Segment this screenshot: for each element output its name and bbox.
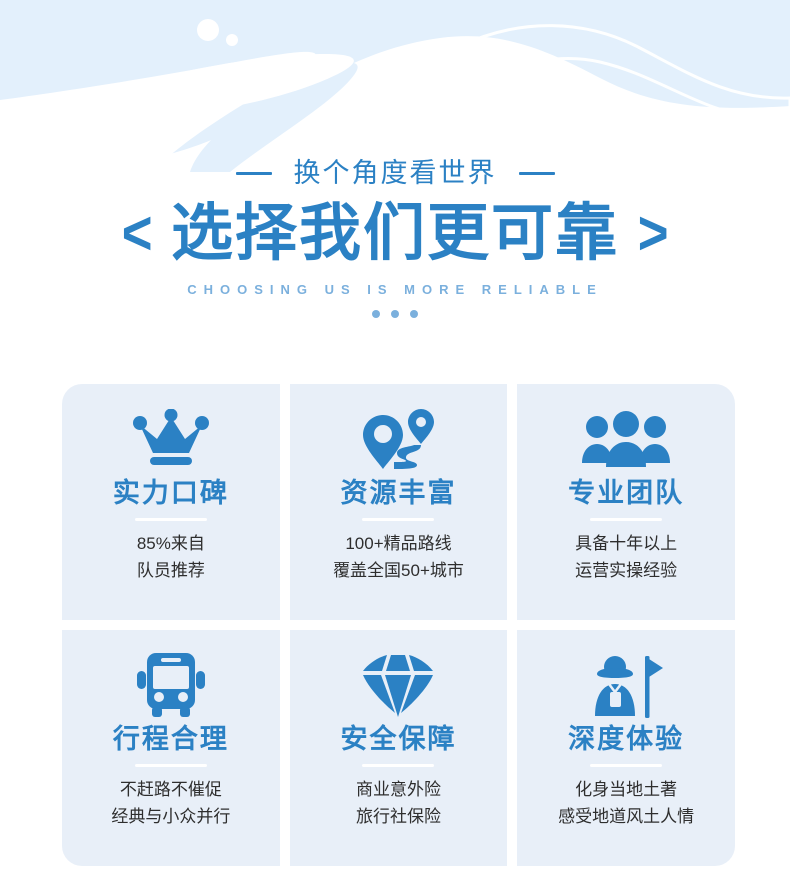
card-desc-line: 感受地道风土人情 bbox=[558, 804, 694, 831]
tour-guide-flag-icon bbox=[589, 652, 663, 720]
card-desc-line: 队员推荐 bbox=[137, 558, 205, 585]
feature-card-experience[interactable]: 深度体验 化身当地土著 感受地道风土人情 bbox=[517, 630, 735, 866]
feature-card-resources[interactable]: 资源丰富 100+精品路线 覆盖全国50+城市 bbox=[290, 384, 508, 620]
card-desc-line: 经典与小众并行 bbox=[111, 804, 230, 831]
card-description: 化身当地土著 感受地道风土人情 bbox=[558, 777, 694, 831]
card-desc-line: 运营实操经验 bbox=[575, 558, 677, 585]
card-title: 深度体验 bbox=[568, 724, 684, 755]
wave-decoration bbox=[0, 0, 790, 175]
header-block: 换个角度看世界 < 选择我们更可靠 > CHOOSING US IS MORE … bbox=[0, 160, 790, 318]
card-title: 实力口碑 bbox=[113, 478, 229, 509]
card-description: 85%来自 队员推荐 bbox=[137, 531, 205, 585]
page-title: 选择我们更可靠 bbox=[171, 201, 619, 266]
card-desc-line: 覆盖全国50+城市 bbox=[333, 558, 464, 585]
card-desc-line: 具备十年以上 bbox=[575, 531, 677, 558]
card-desc-line: 商业意外险 bbox=[356, 777, 441, 804]
bus-icon bbox=[137, 652, 205, 720]
dot-1 bbox=[372, 310, 380, 318]
chevron-left-icon: < bbox=[121, 203, 152, 265]
eyebrow-dash-left bbox=[236, 172, 272, 175]
card-title: 资源丰富 bbox=[340, 478, 456, 509]
card-divider bbox=[362, 518, 434, 521]
crown-icon bbox=[133, 406, 209, 474]
feature-card-reputation[interactable]: 实力口碑 85%来自 队员推荐 bbox=[62, 384, 280, 620]
team-people-icon bbox=[582, 406, 670, 474]
card-divider bbox=[135, 764, 207, 767]
card-description: 商业意外险 旅行社保险 bbox=[356, 777, 441, 831]
card-desc-line: 旅行社保险 bbox=[356, 804, 441, 831]
feature-card-safety[interactable]: 安全保障 商业意外险 旅行社保险 bbox=[290, 630, 508, 866]
card-description: 100+精品路线 覆盖全国50+城市 bbox=[333, 531, 464, 585]
card-divider bbox=[362, 764, 434, 767]
card-description: 具备十年以上 运营实操经验 bbox=[575, 531, 677, 585]
main-title-row: < 选择我们更可靠 > bbox=[0, 201, 790, 266]
card-title: 安全保障 bbox=[340, 724, 456, 755]
card-divider bbox=[135, 518, 207, 521]
map-route-pins-icon bbox=[359, 406, 437, 474]
feature-card-grid: 实力口碑 85%来自 队员推荐 资源丰富 100+精品路线 bbox=[62, 384, 735, 866]
card-divider bbox=[590, 764, 662, 767]
card-desc-line: 化身当地土著 bbox=[558, 777, 694, 804]
card-desc-line: 85%来自 bbox=[137, 531, 205, 558]
card-divider bbox=[590, 518, 662, 521]
decorative-dots bbox=[0, 310, 790, 318]
card-desc-line: 不赶路不催促 bbox=[111, 777, 230, 804]
eyebrow-dash-right bbox=[519, 172, 555, 175]
card-title: 专业团队 bbox=[568, 478, 684, 509]
card-desc-line: 100+精品路线 bbox=[333, 531, 464, 558]
diamond-icon bbox=[361, 652, 435, 720]
eyebrow-row: 换个角度看世界 bbox=[0, 160, 790, 187]
card-description: 不赶路不催促 经典与小众并行 bbox=[111, 777, 230, 831]
dot-2 bbox=[391, 310, 399, 318]
feature-card-team[interactable]: 专业团队 具备十年以上 运营实操经验 bbox=[517, 384, 735, 620]
feature-card-itinerary[interactable]: 行程合理 不赶路不催促 经典与小众并行 bbox=[62, 630, 280, 866]
dot-3 bbox=[410, 310, 418, 318]
card-title: 行程合理 bbox=[113, 724, 229, 755]
chevron-right-icon: > bbox=[638, 203, 669, 265]
eyebrow-text: 换个角度看世界 bbox=[294, 160, 497, 187]
subtitle-english: CHOOSING US IS MORE RELIABLE bbox=[0, 282, 790, 297]
promo-banner-page: 换个角度看世界 < 选择我们更可靠 > CHOOSING US IS MORE … bbox=[0, 0, 790, 881]
